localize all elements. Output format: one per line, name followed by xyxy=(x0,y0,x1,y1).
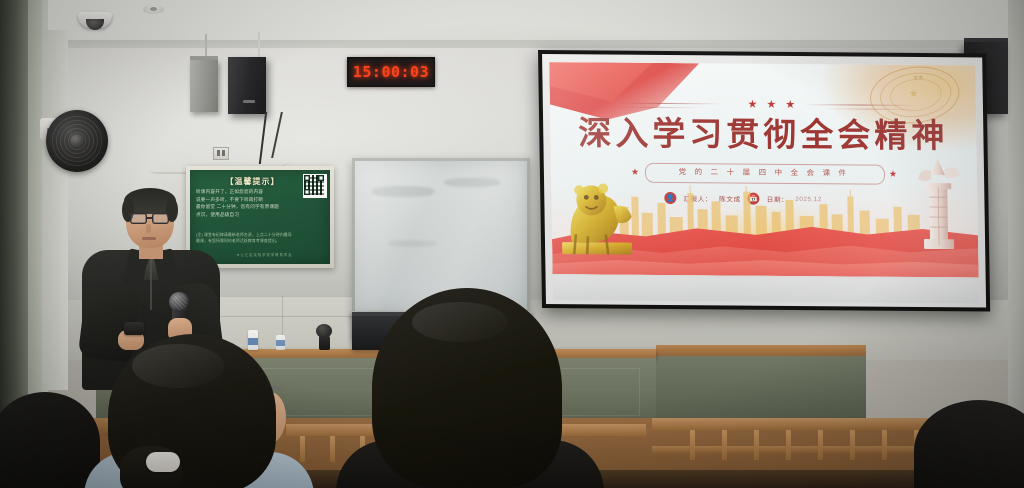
smoke-detector-center xyxy=(150,7,157,11)
presenter-glasses-right-lens xyxy=(152,213,169,224)
fan-hub xyxy=(70,134,84,148)
classroom-photo: 15:00:03 【温馨提示】 听课内容开了，正如您您的内容 说要一声多听，不要… xyxy=(0,0,1024,488)
left-wall-strip xyxy=(42,30,68,390)
presenter-glasses-bridge xyxy=(146,217,153,219)
slide-monument-graphic xyxy=(915,153,963,249)
screen-blank-area xyxy=(553,276,979,303)
presenter-glasses-left-lens xyxy=(130,213,147,224)
outlet-slot-2 xyxy=(222,150,225,156)
bottle-label xyxy=(248,338,258,345)
slide-stone-lion-graphic xyxy=(557,172,636,257)
clock-display: 15:00:03 xyxy=(349,59,433,85)
bench-slat xyxy=(300,436,305,462)
speaker-badge xyxy=(243,100,255,103)
audience-member-right xyxy=(914,400,1024,488)
notice-board-footer: ★ 公 江 区 实 验 学 校 学 教 育 学 会 xyxy=(214,252,314,257)
presenter-zipper xyxy=(150,256,152,310)
right-wall-edge xyxy=(1008,0,1024,430)
bench-slat xyxy=(786,430,791,460)
audience-hair-highlight xyxy=(412,302,508,342)
bench-slat xyxy=(330,436,335,462)
audience-hair-highlight xyxy=(132,344,224,388)
presenter-nose xyxy=(146,224,151,233)
wall-speaker-black-icon xyxy=(228,57,266,114)
slide-subtitle-star-right: ★ xyxy=(889,168,897,180)
slide-divider: ★ ★ ★ xyxy=(610,97,916,113)
bench-slat xyxy=(882,430,887,460)
whiteboard-glare xyxy=(355,161,527,313)
presentation-clicker-icon xyxy=(124,322,144,335)
led-wall-clock: 15:00:03 xyxy=(347,57,435,87)
slide-star-row: ★ ★ ★ xyxy=(728,97,818,112)
audience-member-left xyxy=(0,392,100,488)
wall-speaker-grey-icon xyxy=(190,60,218,112)
bench-slat xyxy=(754,430,759,460)
slide-subtitle-wrap: ★ 党 的 二 十 届 四 中 全 会 课 件 ★ xyxy=(631,163,897,183)
slide-skyline-graphic xyxy=(611,185,932,240)
bench-slat xyxy=(818,430,823,460)
hair-scrunchie xyxy=(146,452,180,472)
qr-code-pattern xyxy=(304,175,324,195)
power-outlet-icon xyxy=(213,147,229,160)
presentation-slide: ★ 全会 ★ ★ ★ 深入学习贯彻全会精神 ★ 党 的 二 十 届 四 中 全 … xyxy=(549,62,978,277)
podium-right-body xyxy=(656,356,866,418)
slide-subtitle: 党 的 二 十 届 四 中 全 会 课 件 xyxy=(645,163,883,183)
slide-emblem-text: 全会 xyxy=(913,73,935,82)
speaker-wire-2 xyxy=(258,32,260,58)
microphone-grill xyxy=(171,294,187,310)
bench-slat xyxy=(850,430,855,460)
desk-microphone-base xyxy=(319,336,330,350)
projection-screen-assembly: ★ 全会 ★ ★ ★ 深入学习贯彻全会精神 ★ 党 的 二 十 届 四 中 全 … xyxy=(538,50,990,311)
bottle-label xyxy=(276,340,285,346)
notice-board-title: 【温馨提示】 xyxy=(205,176,300,187)
bench-slat xyxy=(722,430,727,460)
presenter-mouth xyxy=(142,237,156,240)
bench-slat xyxy=(690,430,695,460)
outlet-slot xyxy=(217,150,220,156)
clock-time-text: 15:00:03 xyxy=(353,63,429,81)
slide-title: 深入学习贯彻全会精神 xyxy=(550,112,977,157)
